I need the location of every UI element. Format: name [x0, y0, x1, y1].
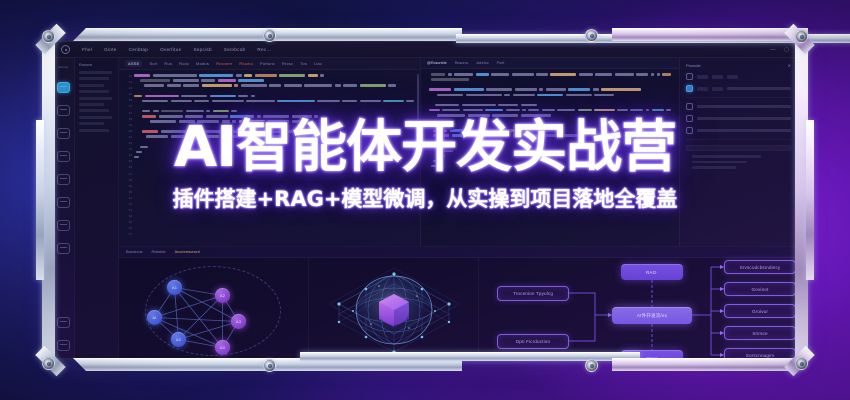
code-token [342, 100, 357, 103]
explorer-row[interactable] [79, 116, 112, 119]
code-line [427, 104, 671, 107]
code-token [343, 84, 357, 87]
property-icon [686, 73, 693, 80]
code-token [485, 109, 503, 112]
code-token [251, 95, 255, 98]
code-token [478, 129, 500, 132]
code-token [651, 73, 655, 76]
ai-agent-architecture-flowchart: RAG·AI件开发流/esStareTrocenion TpyulcgDpti … [479, 258, 797, 358]
code-token [263, 115, 289, 118]
code-token [431, 73, 445, 76]
property-chip [712, 87, 723, 91]
refresh-icon[interactable] [57, 128, 70, 139]
flowchart-node-topology[interactable]: Trocenion Tpyulcg [497, 286, 569, 301]
code-line [134, 125, 414, 128]
code-token [238, 79, 264, 82]
filter-icon [686, 127, 693, 134]
editor-b-tab[interactable]: Pcet [497, 61, 505, 65]
code-token [144, 84, 164, 87]
eye-icon[interactable] [686, 85, 693, 92]
code-line [134, 145, 414, 148]
line-number: 19 [129, 123, 132, 127]
code-token [504, 94, 510, 97]
property-row[interactable] [686, 85, 791, 92]
property-row[interactable] [686, 73, 791, 80]
isometric-hex-core-visual [309, 258, 479, 358]
explorer-header: Rcsorce [79, 63, 114, 67]
line-number: 25 [129, 159, 132, 163]
line-number: 32 [129, 202, 132, 206]
graph-node[interactable]: A2 [215, 288, 230, 303]
ide-primary-editor: ASSE Scrt Rus Rcdc Modus Rcsonre Rlucho … [119, 58, 421, 246]
code-line [427, 149, 671, 152]
code-token [452, 134, 482, 137]
code-token [292, 115, 312, 118]
code-token [244, 74, 252, 77]
tree-item[interactable] [692, 166, 736, 169]
editor-b-tab[interactable]: dcbrtcc [476, 61, 488, 65]
circle-logo-icon [61, 45, 70, 54]
code-token [433, 124, 445, 127]
window-controls: — ▢ [770, 47, 797, 53]
line-number: 35 [129, 220, 132, 224]
line-number: 18 [129, 117, 132, 121]
code-token [431, 165, 436, 168]
code-token [528, 109, 539, 112]
flowchart-node-center[interactable]: AI件开发流/es [612, 307, 692, 324]
code-line [134, 105, 414, 108]
code-token [320, 74, 324, 77]
property-chip [697, 75, 708, 79]
line-number: 22 [129, 141, 132, 145]
property-row[interactable] [686, 103, 791, 110]
code-token [263, 130, 285, 133]
flowchart-node-state[interactable]: Stare [621, 350, 683, 358]
bolt-icon [585, 359, 598, 372]
code-line [427, 129, 671, 132]
code-line [427, 88, 671, 91]
editor-tab[interactable]: Rcsonre [216, 61, 232, 66]
code-token [253, 130, 261, 133]
code-token [521, 104, 537, 107]
code-token [179, 120, 195, 123]
code-token [666, 109, 671, 112]
code-token [437, 114, 465, 117]
properties-title: Prcocde [686, 63, 701, 68]
code-token [304, 84, 332, 87]
code-token [202, 84, 232, 87]
flowchart-node-branch5[interactable]: Sorscnnagim [724, 348, 796, 358]
code-token [145, 95, 179, 98]
code-token [186, 110, 204, 113]
menu-item-2[interactable]: Cenbtap [129, 47, 148, 52]
editor-code-area[interactable] [134, 70, 414, 246]
code-token [284, 84, 302, 87]
code-token [512, 73, 534, 76]
divider [686, 139, 791, 140]
code-token [212, 100, 244, 103]
code-line [134, 140, 414, 143]
code-token [550, 73, 576, 76]
code-token [594, 109, 614, 112]
property-chip [712, 75, 723, 79]
code-token [255, 74, 277, 77]
home-icon[interactable] [57, 105, 70, 116]
editor-tab[interactable]: Modus [196, 61, 209, 66]
property-chip [727, 75, 738, 79]
code-token [153, 110, 159, 113]
code-token [206, 110, 210, 113]
code-token [536, 73, 548, 76]
code-line [427, 73, 671, 76]
line-number: 23 [129, 147, 132, 151]
menu-item-0[interactable]: Fhel [82, 47, 92, 52]
line-number: 33 [129, 208, 132, 212]
terminal-icon[interactable] [57, 243, 70, 254]
code-token [181, 95, 207, 98]
code-token [185, 115, 203, 118]
code-token [360, 84, 386, 87]
editor-tab[interactable]: Tos [300, 61, 307, 66]
code-token [153, 74, 197, 77]
menu-item-3[interactable]: Overfitue [160, 47, 181, 52]
editor-tab[interactable]: ASSE [125, 60, 142, 67]
code-token [646, 109, 650, 112]
code-token [454, 88, 484, 91]
hex-core-graphic [309, 258, 479, 358]
code-line [134, 120, 414, 123]
code-token [238, 95, 248, 98]
code-token [142, 110, 150, 113]
graph-node[interactable]: A0 [215, 340, 230, 355]
editor-b-tab[interactable]: @Rcsonble [427, 61, 447, 65]
code-token [161, 110, 183, 113]
code-line [427, 109, 671, 112]
poster-stage: Fhel Ginte Cenbtap Overfitue Sepcisb Sem… [0, 0, 850, 400]
graph-edges [119, 258, 309, 358]
editor-tab[interactable]: Puftunc [260, 61, 275, 66]
property-label [697, 105, 791, 108]
code-token [222, 135, 240, 138]
code-token [236, 74, 242, 77]
cloud-icon[interactable] [57, 151, 70, 162]
code-token [431, 78, 469, 81]
explorer-row[interactable] [79, 109, 109, 112]
property-chip [697, 87, 708, 91]
menu-item-4[interactable]: Sepcisb [193, 47, 211, 52]
editor-tab[interactable]: Rlucho [239, 61, 253, 66]
line-number: 21 [129, 135, 132, 139]
code-token [601, 88, 641, 91]
ide-activity-rail: Exrrme [53, 58, 75, 358]
code-token [579, 73, 593, 76]
explorer-row[interactable] [79, 77, 109, 80]
code-token [230, 115, 254, 118]
line-number: 20 [129, 129, 132, 133]
ide-properties-panel: Prcocde ✕ [679, 58, 797, 246]
line-number: 37 [129, 232, 132, 236]
code-token [593, 88, 599, 91]
line-number: 16 [129, 104, 132, 108]
code-token [383, 100, 404, 103]
bottom-tab[interactable]: Arccnnesoncnt [175, 250, 200, 254]
code-token [257, 115, 261, 118]
bottom-tab[interactable]: Bcsctrcns [126, 250, 142, 254]
editor-tab[interactable]: Rcdc [179, 61, 189, 66]
explorer-row[interactable] [79, 129, 109, 132]
code-token [595, 73, 612, 76]
code-line [427, 144, 671, 147]
close-icon[interactable]: ✕ [788, 63, 791, 68]
line-number: 29 [129, 184, 132, 188]
code-token [140, 79, 170, 82]
code-token [183, 84, 199, 87]
layers-icon[interactable] [57, 220, 70, 231]
code-line [427, 119, 671, 122]
line-number: 28 [129, 178, 132, 182]
editor-tabbar: ASSE Scrt Rus Rcdc Modus Rcsonre Rlucho … [119, 58, 420, 70]
code-token [140, 146, 148, 149]
code-token [636, 73, 648, 76]
line-number: 11 [129, 74, 132, 78]
divider [686, 97, 791, 98]
code-token [491, 73, 509, 76]
code-token [522, 109, 526, 112]
code-line [134, 74, 414, 77]
line-number: 17 [129, 111, 132, 115]
flowchart-node-dataprod[interactable]: Dpti Ficrduction [497, 334, 569, 349]
property-label [697, 117, 791, 120]
bolt-icon [795, 30, 808, 43]
minimize-icon[interactable]: — [770, 47, 775, 53]
code-token [388, 84, 396, 87]
code-line [427, 165, 671, 168]
code-token [241, 84, 267, 87]
code-line [134, 94, 414, 97]
code-token [161, 130, 187, 133]
code-line [427, 124, 671, 127]
code-line [134, 89, 414, 92]
editor-tab[interactable]: Scrt [149, 61, 157, 66]
editor-b-tabbar: @Rcsonble Rcsnrcc dcbrtcc Pcet [421, 58, 679, 69]
code-line [427, 93, 671, 96]
code-line [427, 78, 671, 81]
ide-explorer-panel: Rcsorce [75, 58, 119, 358]
line-number: 31 [129, 196, 132, 200]
code-token [435, 104, 459, 107]
line-number: 15 [129, 98, 132, 102]
flowchart-node-rag[interactable]: RAG· [621, 264, 683, 280]
database-icon[interactable] [57, 174, 70, 185]
code-token [239, 120, 265, 123]
code-token [542, 134, 560, 137]
code-token [201, 79, 215, 82]
code-line [427, 139, 671, 142]
code-token [448, 73, 452, 76]
editor-tab[interactable]: Liac [314, 61, 322, 66]
line-number: 26 [129, 165, 132, 169]
property-tree [692, 155, 791, 169]
flowchart-node-branch1[interactable]: Srvscodcbsmdincy [724, 260, 796, 274]
maximize-icon[interactable]: ▢ [784, 47, 789, 53]
code-token [213, 110, 229, 113]
code-line [427, 114, 671, 117]
code-token [506, 109, 520, 112]
code-token [513, 134, 523, 137]
code-token [439, 150, 453, 153]
code-token [566, 94, 592, 97]
code-token [429, 109, 440, 112]
line-number: 14 [129, 92, 132, 96]
code-token [521, 129, 535, 132]
explorer-row[interactable] [79, 90, 109, 93]
line-number: 30 [129, 190, 132, 194]
code-token [466, 94, 502, 97]
account-icon[interactable] [57, 317, 70, 328]
code-token [542, 109, 555, 112]
editor-tab[interactable]: Rus [164, 61, 172, 66]
property-row[interactable] [686, 115, 791, 122]
code-token [652, 109, 664, 112]
code-token [498, 104, 518, 107]
code-line [134, 79, 414, 82]
code-token [484, 134, 510, 137]
editor-b-tab[interactable]: Rcsnrcc [455, 61, 469, 65]
editor-tab[interactable]: Rrcsc [282, 61, 293, 66]
bottom-panel-tabbar: Bcsctrcns Rcbstrte Arccnnesoncnt [119, 247, 797, 258]
menu-item-1[interactable]: Ginte [104, 47, 116, 52]
code-token [562, 134, 588, 137]
explorer-row[interactable] [79, 97, 112, 100]
flowchart-node-branch3[interactable]: Groivur [724, 304, 796, 318]
graph-node[interactable]: A3 [231, 314, 246, 329]
code-line [427, 160, 671, 163]
explorer-icon[interactable] [57, 82, 70, 93]
code-token [134, 156, 139, 159]
code-token [171, 100, 192, 103]
tree-item[interactable] [692, 155, 761, 158]
code-token [476, 73, 489, 76]
branch-icon[interactable] [57, 197, 70, 208]
code-token [288, 130, 310, 133]
line-number: 24 [129, 153, 132, 157]
code-token [486, 88, 512, 91]
settings-icon[interactable] [57, 340, 70, 351]
flowchart-node-branch4[interactable]: Srirsce [724, 326, 796, 340]
code-token [437, 155, 445, 158]
menu-item-6[interactable]: Rec... [257, 47, 271, 52]
code-token [578, 109, 592, 112]
code-token [539, 88, 543, 91]
code-token [538, 129, 556, 132]
code-token [222, 120, 230, 123]
bottom-tab[interactable]: Rcbstrte [151, 250, 165, 254]
code-token [159, 115, 183, 118]
code-token [206, 115, 228, 118]
code-token [360, 100, 381, 103]
code-token [231, 110, 237, 113]
code-token [617, 109, 628, 112]
code-token [429, 88, 451, 91]
code-token [134, 74, 150, 77]
graph-node[interactable]: A2 [171, 332, 186, 347]
code-token [521, 114, 551, 117]
tree-item[interactable] [692, 161, 747, 164]
code-token [199, 74, 233, 77]
editor-b-code-area[interactable] [427, 69, 671, 246]
explorer-row[interactable] [79, 71, 112, 74]
code-token [503, 129, 519, 132]
bolt-icon [263, 359, 276, 372]
code-token [591, 134, 611, 137]
graph-node[interactable]: A1 [167, 280, 182, 295]
line-number: 34 [129, 214, 132, 218]
code-token [269, 84, 281, 87]
editor-gutter: 1112131415161718192021222324252627282930… [119, 70, 132, 246]
code-token [657, 73, 660, 76]
code-token [594, 94, 614, 97]
code-token [242, 135, 268, 138]
code-token [630, 109, 643, 112]
code-token [662, 73, 671, 76]
property-row[interactable] [686, 127, 791, 134]
code-token [437, 94, 463, 97]
code-line [134, 130, 414, 133]
code-token [189, 130, 195, 133]
code-line [134, 156, 414, 159]
code-line [134, 84, 414, 87]
code-token [437, 145, 447, 148]
code-token [463, 109, 483, 112]
code-token [525, 134, 539, 137]
code-token [246, 100, 274, 103]
ide-bottom-panel: Bcsctrcns Rcbstrte Arccnnesoncnt A1A2AIA… [119, 246, 797, 358]
code-token [433, 160, 439, 163]
code-token [433, 134, 449, 137]
code-line [134, 110, 414, 113]
property-field[interactable] [686, 145, 791, 151]
code-token [454, 73, 473, 76]
flowchart-node-branch2[interactable]: Govinot [724, 282, 796, 296]
editor-scrollbar[interactable] [417, 74, 419, 126]
property-label [727, 87, 791, 90]
code-token [142, 130, 158, 133]
link-icon [686, 103, 693, 110]
properties-header: Prcocde ✕ [686, 63, 791, 68]
code-line [427, 155, 671, 158]
code-line [427, 98, 671, 101]
code-token [314, 115, 318, 118]
code-line [134, 150, 414, 153]
code-token [232, 120, 236, 123]
menu-item-5[interactable]: Sembcob [224, 47, 246, 52]
graph-node[interactable]: AI [147, 310, 162, 325]
code-token [406, 100, 414, 103]
code-line [134, 135, 414, 138]
explorer-row[interactable] [79, 84, 104, 87]
bolt-icon [42, 357, 55, 370]
explorer-row[interactable] [79, 103, 104, 106]
code-token [198, 130, 226, 133]
line-number: 36 [129, 226, 132, 230]
code-token [513, 94, 535, 97]
code-token [468, 114, 490, 117]
code-line [134, 115, 414, 118]
code-token [142, 115, 156, 118]
explorer-row[interactable] [79, 122, 104, 125]
code-token [171, 135, 197, 138]
code-token [228, 130, 250, 133]
